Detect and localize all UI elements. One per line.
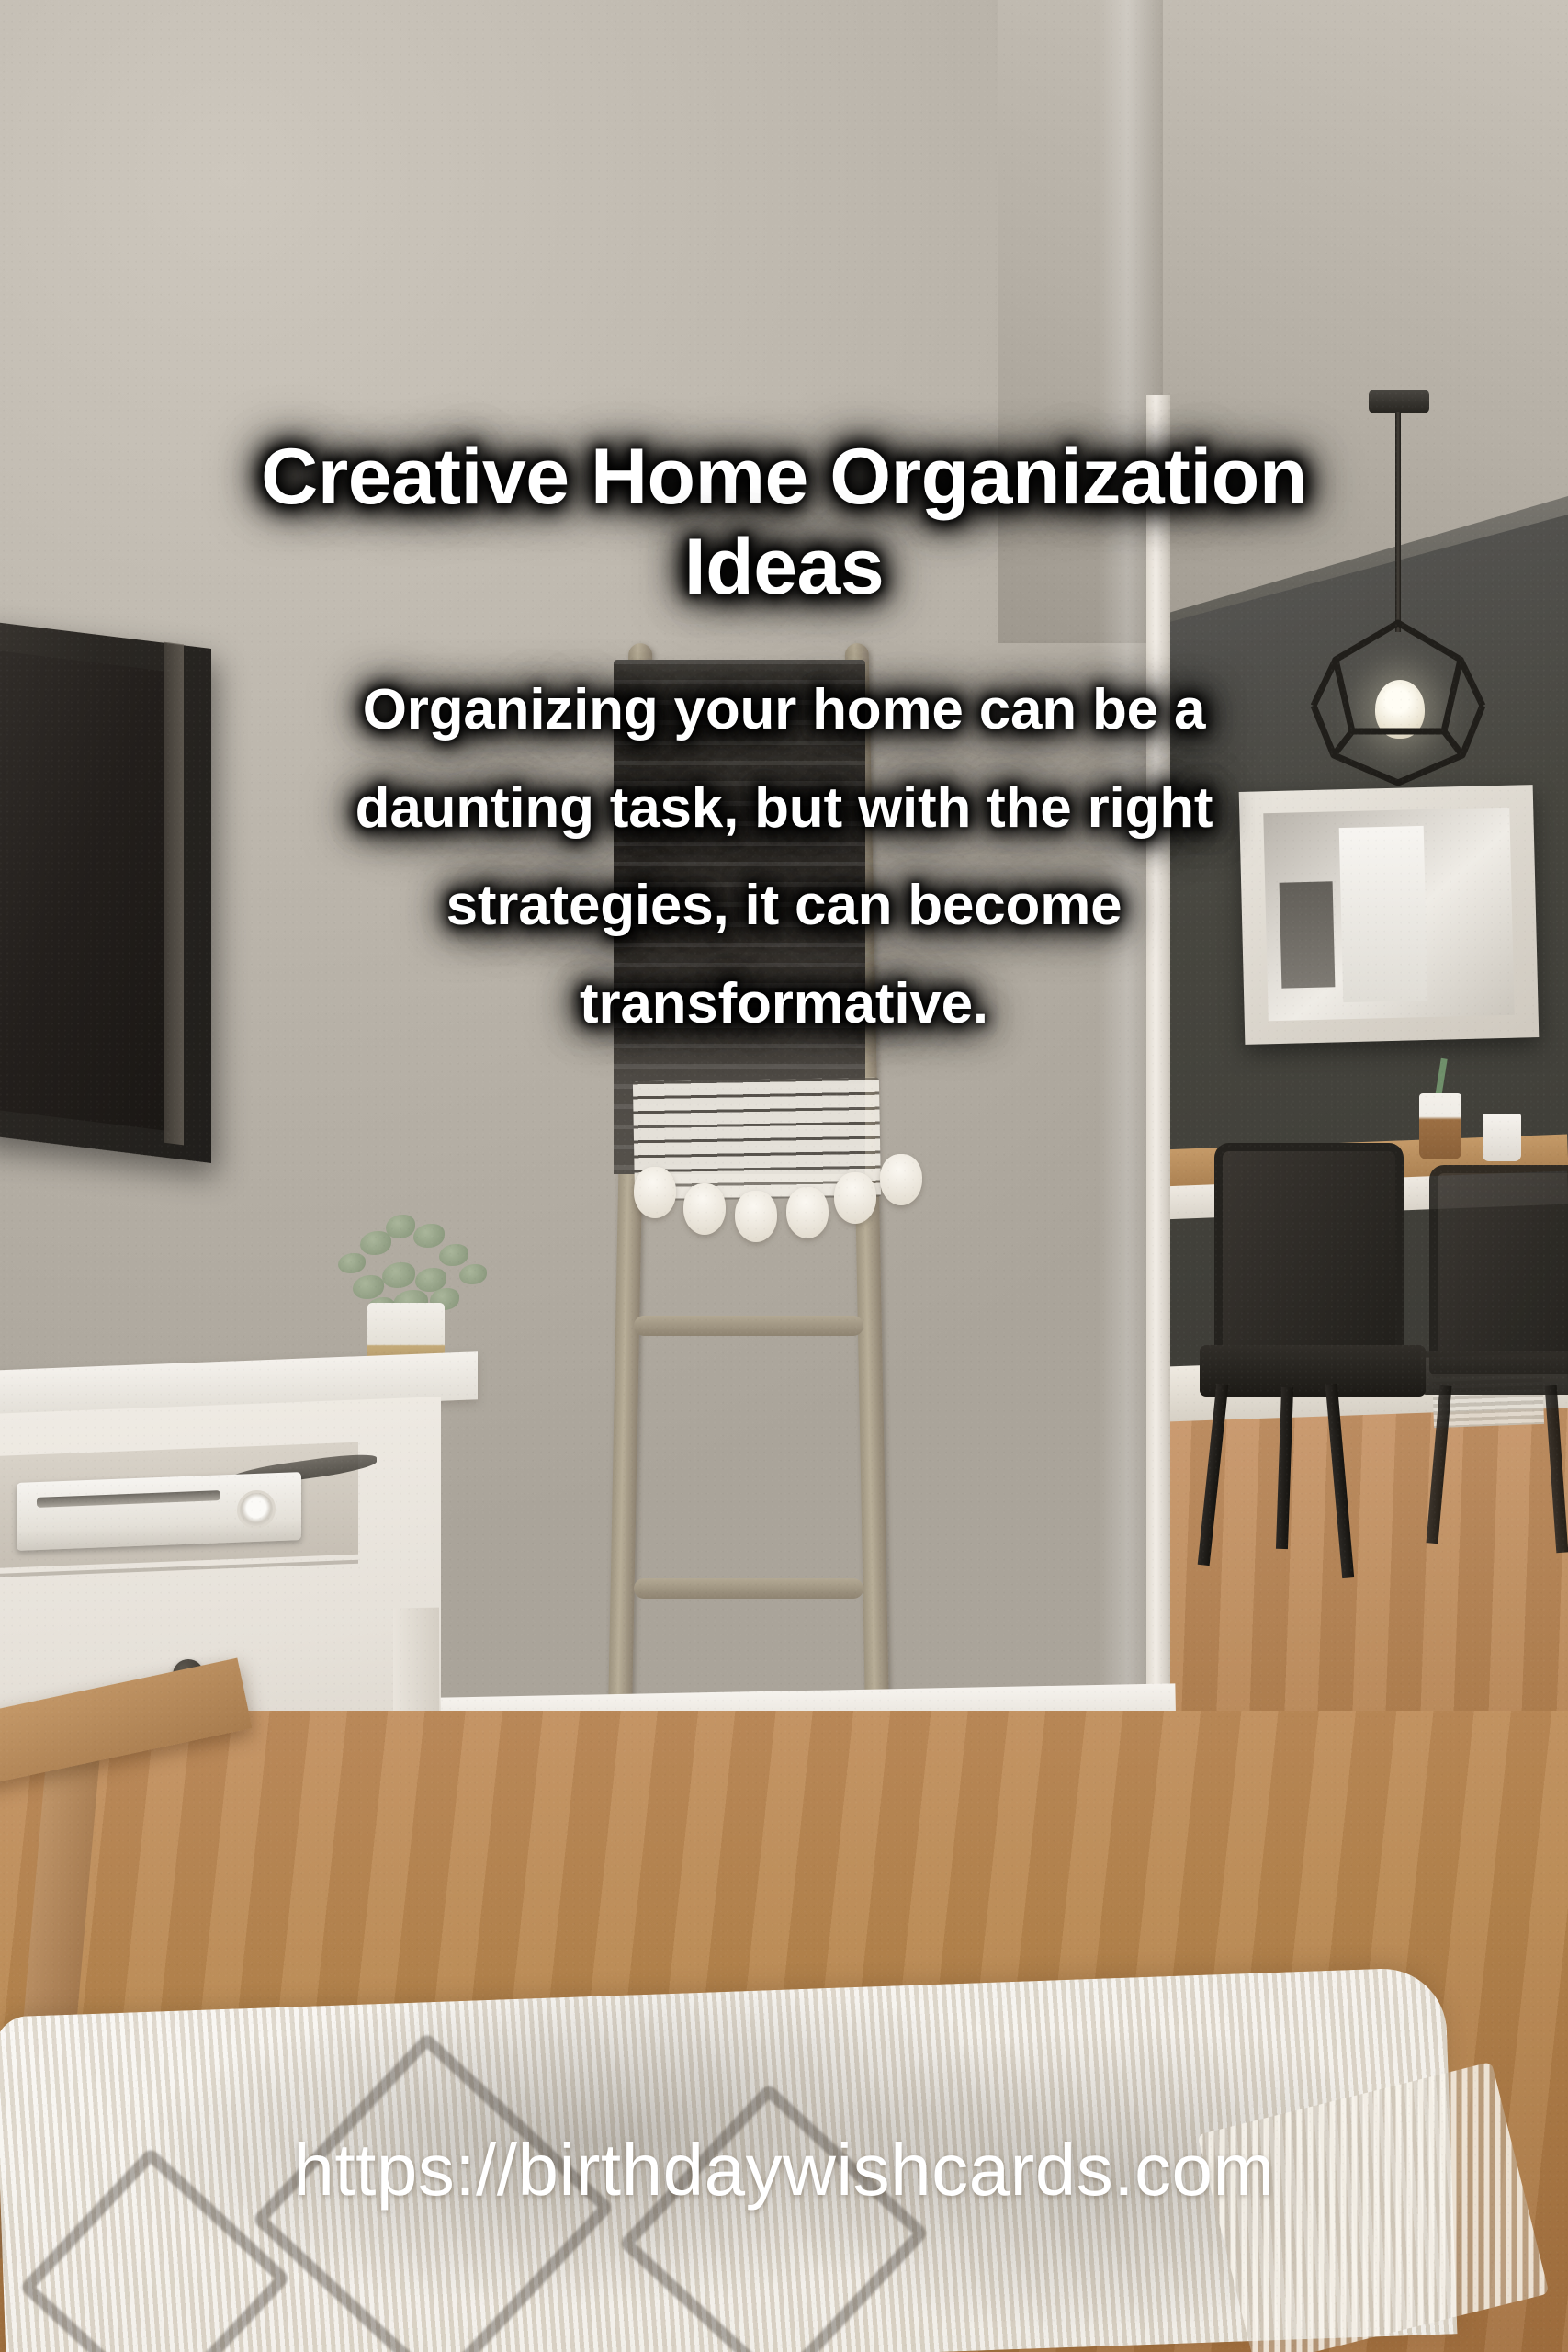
blanket-tassel (634, 1167, 676, 1218)
pendant-rod (1395, 412, 1401, 632)
pin-card: Creative Home Organization Ideas Organiz… (0, 0, 1568, 2352)
small-cup (1483, 1114, 1521, 1161)
pendant-canopy (1369, 390, 1429, 413)
iced-coffee-cup (1419, 1093, 1461, 1159)
tv-screen (0, 648, 169, 1131)
mirror-reflection-window (1339, 826, 1428, 1002)
pendant-light-icon (1306, 617, 1490, 788)
tv-bezel-edge (164, 642, 184, 1146)
ladder-rung (634, 1578, 863, 1599)
background-photo (0, 0, 1568, 2352)
card-title: Creative Home Organization Ideas (174, 432, 1395, 612)
ladder-rung (634, 1316, 863, 1336)
blanket-tassel (786, 1187, 829, 1238)
blanket-tassel (834, 1172, 876, 1224)
site-url[interactable]: https://birthdaywishcards.com (50, 2128, 1519, 2212)
blanket-tassel (683, 1183, 726, 1235)
card-subtitle: Organizing your home can be a daunting t… (252, 661, 1317, 1054)
blanket-tassel (735, 1191, 777, 1242)
blanket-tassel (880, 1154, 922, 1205)
